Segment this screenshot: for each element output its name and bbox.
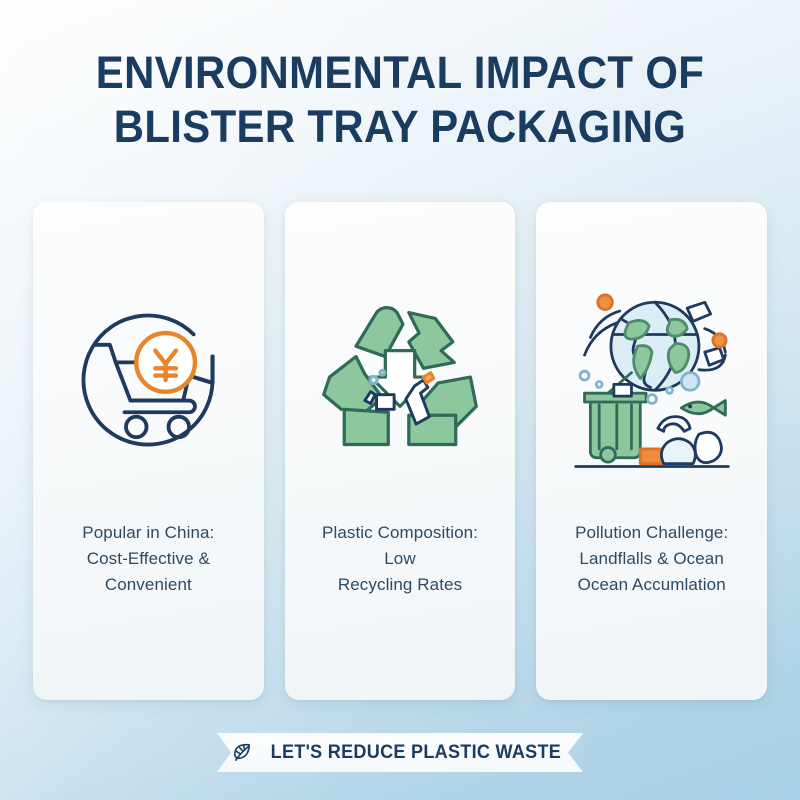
polluted-globe-trash-bin-icon [564,286,740,474]
banner-label: LET'S REDUCE PLASTIC WASTE [271,742,561,764]
card-pollution-challenge: Pollution Challenge: Landflalls & Ocean … [536,202,767,700]
leaf-icon [231,741,254,764]
card-plastic-composition: Plastic Composition: Low Recycling Rates [285,202,516,700]
card-caption: Popular in China: Cost-Effective & Conve… [82,520,214,598]
card-popular-in-china: Popular in China: Cost-Effective & Conve… [33,202,264,700]
card-caption: Pollution Challenge: Landflalls & Ocean … [575,520,728,598]
title-line-2: BLISTER TRAY PACKAGING [80,100,720,154]
reduce-plastic-waste-banner: LET'S REDUCE PLASTIC WASTE [217,733,583,772]
recycling-arrows-plastic-waste-icon [312,286,488,474]
poster-title: ENVIRONMENTAL IMPACT OF BLISTER TRAY PAC… [0,46,800,154]
card-caption: Plastic Composition: Low Recycling Rates [322,520,478,598]
title-line-1: ENVIRONMENTAL IMPACT OF [80,46,720,100]
card-row: Popular in China: Cost-Effective & Conve… [33,202,767,700]
shopping-cart-yen-cycle-icon [60,286,236,474]
